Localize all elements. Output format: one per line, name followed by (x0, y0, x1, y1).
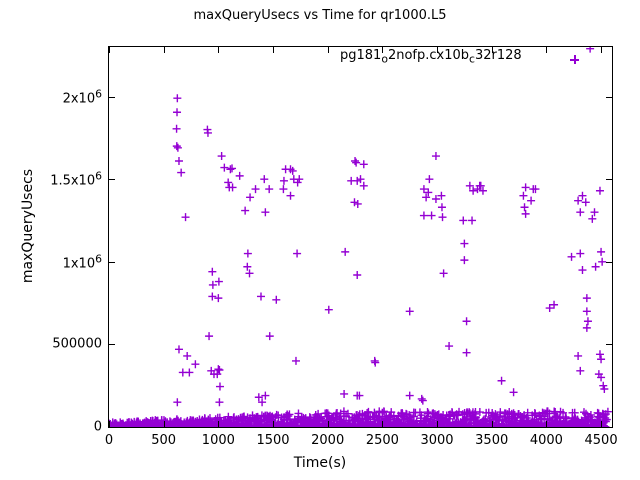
y-axis-label: maxQueryUsecs (20, 146, 36, 306)
x-tick-mark (109, 47, 110, 53)
y-tick-label: 0 (94, 420, 102, 435)
y-tick-mark (109, 97, 115, 98)
y-tick-mark (109, 262, 115, 263)
plot-area (108, 46, 613, 428)
legend-marker-plus-icon (570, 55, 579, 64)
y-tick-mark (109, 179, 115, 180)
x-tick-label: 0 (105, 433, 113, 448)
x-tick-mark (218, 47, 219, 53)
x-tick-mark (109, 421, 110, 427)
y-tick-mark (606, 427, 612, 428)
x-tick-mark (328, 47, 329, 53)
x-tick-mark (273, 47, 274, 53)
y-tick-mark (606, 179, 612, 180)
y-tick-label: 2x106 (63, 87, 102, 106)
x-tick-label: 1000 (202, 433, 235, 448)
data-points-layer (109, 47, 612, 427)
x-axis-label: Time(s) (0, 455, 640, 471)
x-tick-label: 1500 (256, 433, 289, 448)
x-tick-mark (492, 421, 493, 427)
legend-series-label: pg181o2nofp.cx10bc32r128 (340, 48, 522, 66)
x-tick-label: 4500 (585, 433, 618, 448)
legend: pg181o2nofp.cx10bc32r128 (340, 48, 522, 66)
scatter-chart: maxQueryUsecs vs Time for qr1000.L5 0 50… (0, 0, 640, 480)
y-tick-label: 500000 (52, 337, 102, 352)
y-tick-mark (109, 427, 115, 428)
x-tick-mark (328, 421, 329, 427)
y-tick-mark (109, 344, 115, 345)
y-tick-mark (606, 97, 612, 98)
x-tick-mark (601, 47, 602, 53)
x-tick-mark (382, 421, 383, 427)
y-axis-tick-labels: 0 500000 1x106 1.5x106 2x106 (0, 0, 102, 480)
x-tick-label: 2000 (311, 433, 344, 448)
x-tick-mark (437, 421, 438, 427)
x-tick-mark (546, 47, 547, 53)
x-tick-mark (546, 421, 547, 427)
x-tick-mark (601, 421, 602, 427)
x-tick-mark (164, 421, 165, 427)
x-tick-mark (164, 47, 165, 53)
x-tick-label: 4000 (530, 433, 563, 448)
x-tick-label: 500 (151, 433, 176, 448)
x-tick-label: 3500 (475, 433, 508, 448)
x-tick-mark (218, 421, 219, 427)
y-tick-mark (606, 262, 612, 263)
y-tick-mark (606, 344, 612, 345)
y-tick-label: 1x106 (63, 252, 102, 271)
x-tick-mark (273, 421, 274, 427)
x-tick-label: 3000 (420, 433, 453, 448)
y-tick-label: 1.5x106 (50, 170, 102, 189)
x-tick-label: 2500 (366, 433, 399, 448)
